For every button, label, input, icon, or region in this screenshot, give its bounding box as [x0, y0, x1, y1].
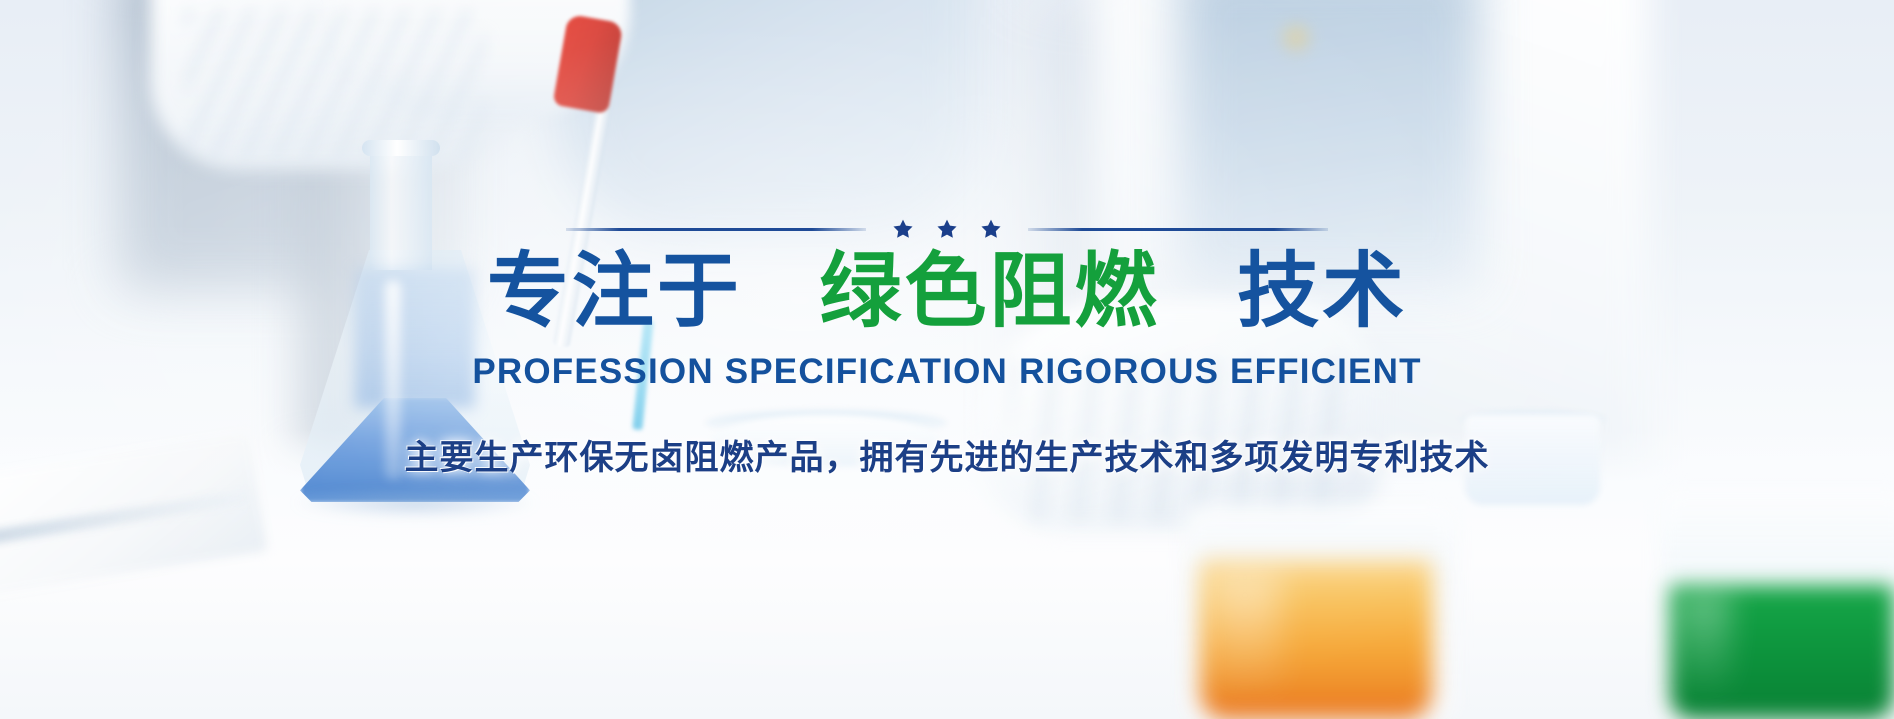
divider-line-left [566, 228, 866, 231]
page-title: 专注于 绿色阻燃 技术 [0, 248, 1894, 337]
description-text: 主要生产环保无卤阻燃产品，拥有先进的生产技术和多项发明专利技术 [0, 430, 1894, 479]
headline-part-3: 技术 [1237, 246, 1407, 337]
divider-line-right [1028, 228, 1328, 231]
flask-shadow [290, 488, 540, 518]
green-flask-highlight [1676, 590, 1731, 700]
hero-banner: 专注于 绿色阻燃 技术 PROFESSION SPECIFICATION RIG… [0, 0, 1894, 719]
english-subtitle: PROFESSION SPECIFICATION RIGOROUS EFFICI… [0, 352, 1894, 392]
glove-finger-creases [185, 10, 485, 160]
headline-part-2: 绿色阻燃 [819, 246, 1159, 337]
headline-part-1: 专注于 [487, 246, 742, 337]
star-icon [980, 218, 1002, 240]
flask-rim [362, 140, 440, 156]
star-group [892, 218, 1002, 240]
shirt-button [1283, 25, 1309, 51]
orange-flask-highlight [1210, 570, 1280, 700]
star-icon [936, 218, 958, 240]
decorative-divider [537, 218, 1357, 240]
star-icon [892, 218, 914, 240]
